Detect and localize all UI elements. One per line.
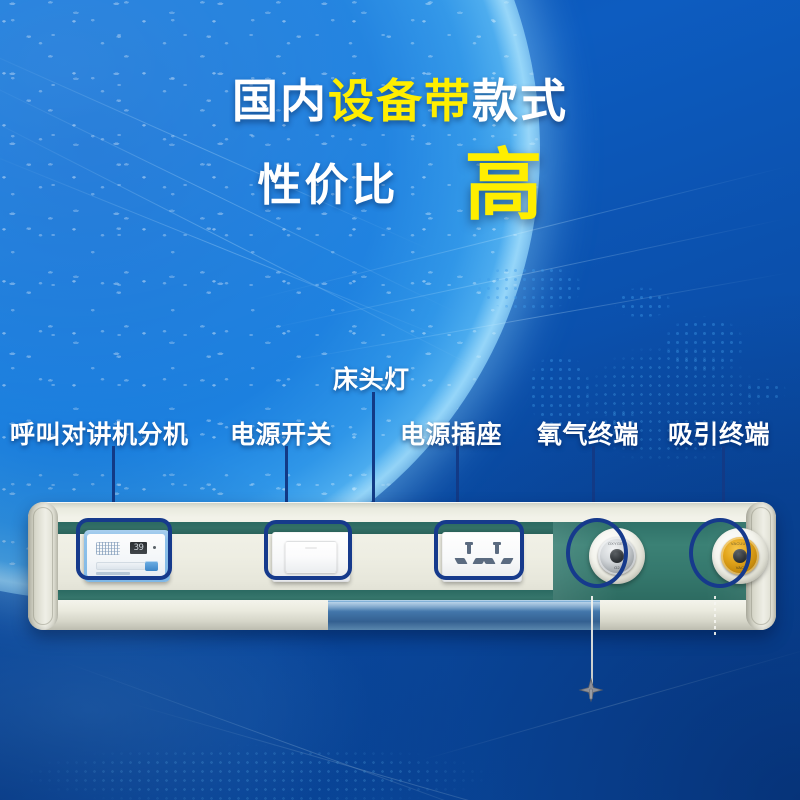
callout-label-suction: 吸引终端 — [668, 415, 770, 451]
highlight-suction — [689, 518, 751, 588]
bed-lamp-strip — [328, 600, 600, 630]
oxygen-hanging-hook-icon — [578, 678, 604, 704]
highlight-power-socket — [434, 520, 524, 580]
callout-intercom: 呼叫对讲机分机 — [10, 415, 189, 451]
callout-bed-lamp: 床头灯 — [333, 360, 410, 396]
callout-label-oxygen: 氧气终端 — [537, 415, 639, 451]
callout-label-power-switch: 电源开关 — [230, 415, 332, 451]
highlight-intercom — [76, 518, 172, 580]
callout-power-socket: 电源插座 — [400, 415, 502, 451]
callout-oxygen: 氧气终端 — [537, 415, 639, 451]
highlight-power-switch — [264, 520, 352, 580]
callout-layer: 呼叫对讲机分机 电源开关 床头灯 电源插座 氧气终端 吸引终端 — [0, 0, 800, 800]
poster-canvas: 国内设备带款式 性价比 高 呼叫对讲机分机 电源开关 床头灯 电源插座 氧气终端… — [0, 0, 800, 800]
highlight-oxygen — [566, 518, 628, 588]
callout-label-bed-lamp: 床头灯 — [333, 360, 410, 396]
callout-label-power-socket: 电源插座 — [400, 415, 502, 451]
unit-end-cap-left — [28, 502, 58, 630]
callout-suction: 吸引终端 — [668, 415, 770, 451]
callout-power-switch: 电源开关 — [230, 415, 332, 451]
suction-hanging-cord — [714, 596, 716, 636]
oxygen-hanging-cord — [591, 596, 593, 684]
callout-label-intercom: 呼叫对讲机分机 — [10, 415, 189, 451]
